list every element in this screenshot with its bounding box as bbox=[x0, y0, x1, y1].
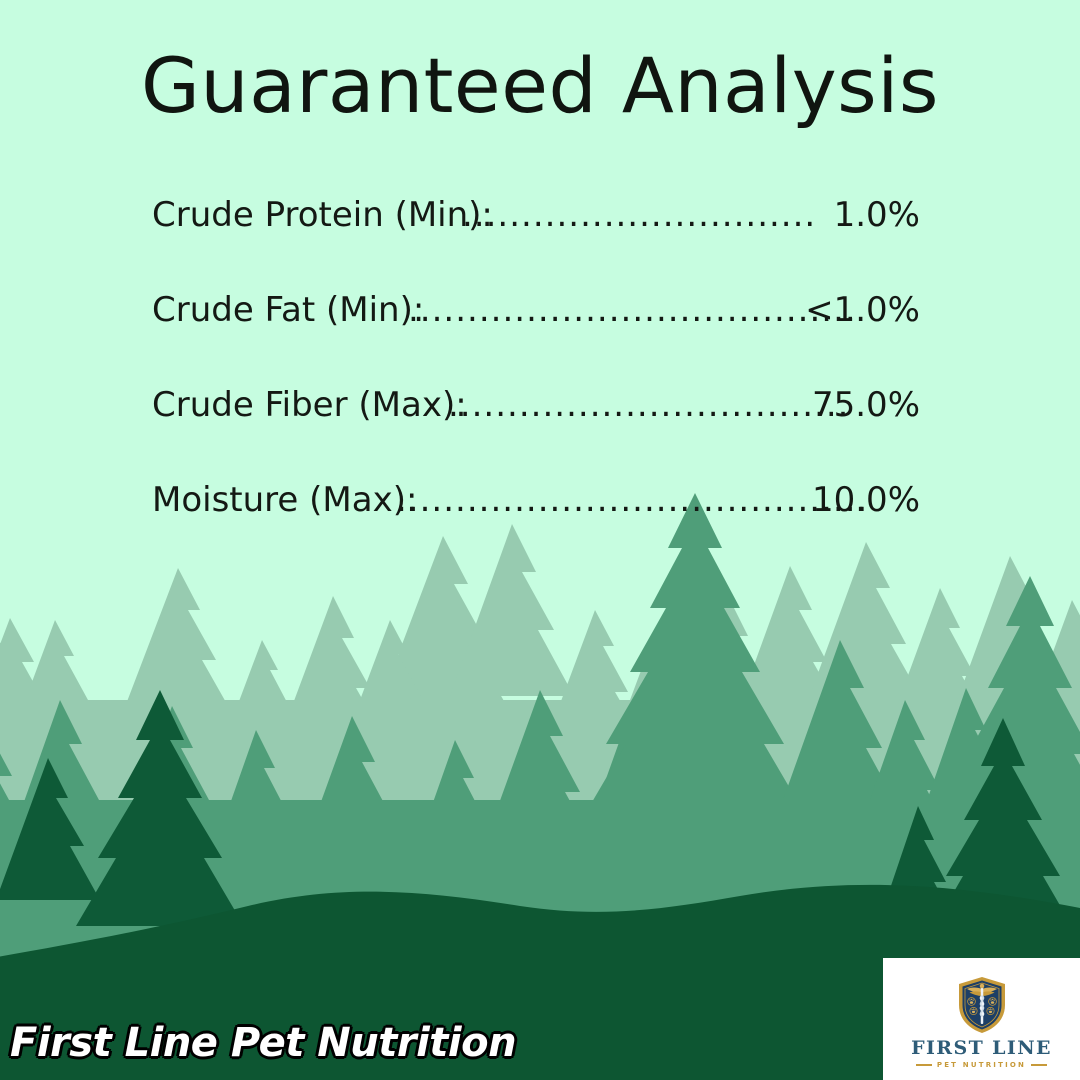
logo-subtitle: PET NUTRITION bbox=[937, 1062, 1026, 1069]
analysis-row: Crude Fat (Min): .......................… bbox=[152, 293, 920, 388]
analysis-row: Crude Protein (Min): ...................… bbox=[152, 198, 920, 293]
shield-caduceus-icon bbox=[957, 976, 1007, 1034]
guaranteed-analysis-list: Crude Protein (Min): ...................… bbox=[152, 198, 920, 578]
analysis-value: 75.0% bbox=[812, 388, 920, 422]
analysis-label: Crude Protein (Min): bbox=[152, 198, 493, 232]
analysis-label: Crude Fat (Min): bbox=[152, 293, 424, 327]
logo-subtitle-row: PET NUTRITION bbox=[916, 1062, 1047, 1069]
brand-logo-card: FIRST LINE PET NUTRITION bbox=[883, 958, 1080, 1080]
poster-canvas: Guaranteed Analysis Crude Protein (Min):… bbox=[0, 0, 1080, 1080]
analysis-row: Crude Fiber (Max): .....................… bbox=[152, 388, 920, 483]
analysis-value: 1.0% bbox=[834, 198, 920, 232]
shield-icon-svg bbox=[957, 976, 1007, 1034]
logo-brand-name: FIRST LINE bbox=[911, 1039, 1052, 1058]
analysis-label: Moisture (Max): bbox=[152, 483, 417, 517]
page-title: Guaranteed Analysis bbox=[0, 44, 1080, 128]
analysis-value: <1.0% bbox=[805, 293, 920, 327]
rule-left bbox=[916, 1064, 932, 1066]
analysis-label: Crude Fiber (Max): bbox=[152, 388, 467, 422]
brand-watermark: First Line Pet Nutrition bbox=[10, 1020, 516, 1066]
rule-right bbox=[1031, 1064, 1047, 1066]
analysis-row: Moisture (Max): ........................… bbox=[152, 483, 920, 578]
analysis-value: 10.0% bbox=[812, 483, 920, 517]
